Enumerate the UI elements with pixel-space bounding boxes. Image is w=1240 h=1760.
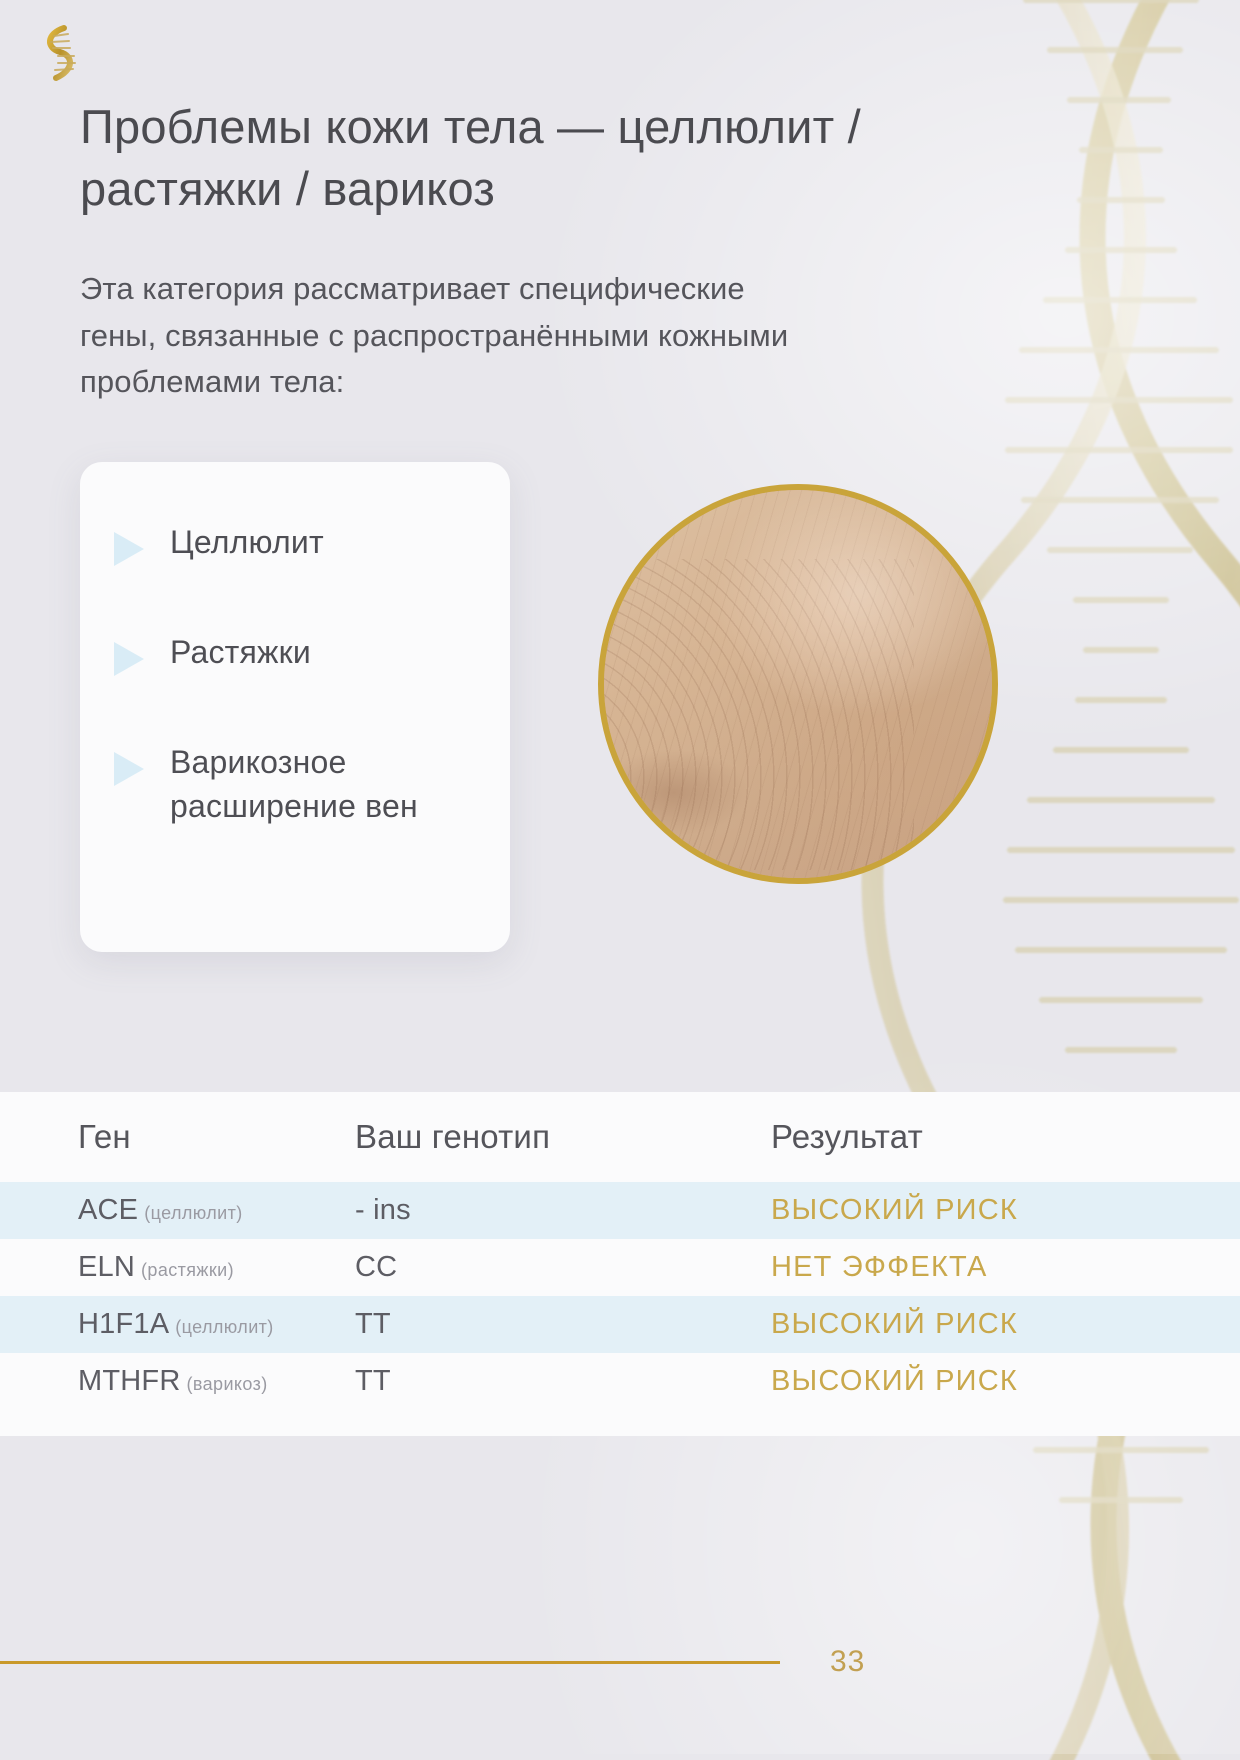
gene-symbol: MTHFR: [78, 1365, 180, 1397]
page-footer: 33: [0, 1642, 1240, 1682]
column-header-genotype: Ваш генотип: [355, 1092, 763, 1182]
intro-paragraph: Эта категория рассматривает специфически…: [80, 220, 800, 406]
cell-gene: H1F1A(целлюлит): [0, 1296, 355, 1353]
status-badge: НЕТ ЭФФЕКТА: [771, 1251, 988, 1283]
cell-result: ВЫСОКИЙ РИСК: [763, 1182, 1240, 1239]
photo-highlight-layer: [604, 490, 992, 878]
genotype-table: Ген Ваш генотип Результат ACE(целлюлит) …: [0, 1092, 1240, 1410]
gene-note: (целлюлит): [144, 1203, 242, 1223]
page-title: Проблемы кожи тела — целлюлит / растяжки…: [80, 0, 960, 220]
gene-symbol: ELN: [78, 1251, 135, 1283]
column-header-gene: Ген: [0, 1092, 355, 1182]
triangle-right-icon: [114, 532, 144, 566]
list-item-label: Целлюлит: [170, 520, 324, 565]
slide-content: Проблемы кожи тела — целлюлит / растяжки…: [0, 0, 1240, 982]
cell-result: ВЫСОКИЙ РИСК: [763, 1353, 1240, 1410]
page-number: 33: [830, 1645, 865, 1679]
list-item-label: Растяжки: [170, 630, 311, 675]
skin-closeup-photo: [598, 484, 998, 884]
table-row: ACE(целлюлит) - ins ВЫСОКИЙ РИСК: [0, 1182, 1240, 1239]
status-badge: ВЫСОКИЙ РИСК: [771, 1194, 1018, 1226]
cell-result: ВЫСОКИЙ РИСК: [763, 1296, 1240, 1353]
list-item: Целлюлит: [114, 520, 476, 566]
cell-genotype: TT: [355, 1353, 763, 1410]
table-header-row: Ген Ваш генотип Результат: [0, 1092, 1240, 1182]
gene-note: (растяжки): [141, 1260, 234, 1280]
footer-rule: [0, 1661, 780, 1664]
status-badge: ВЫСОКИЙ РИСК: [771, 1365, 1018, 1397]
conditions-card: Целлюлит Растяжки Варикозное расширение …: [80, 462, 510, 952]
cell-gene: ACE(целлюлит): [0, 1182, 355, 1239]
gene-symbol: H1F1A: [78, 1308, 169, 1340]
triangle-right-icon: [114, 752, 144, 786]
list-item-label: Варикозное расширение вен: [170, 740, 476, 830]
cell-result: НЕТ ЭФФЕКТА: [763, 1239, 1240, 1296]
conditions-list: Целлюлит Растяжки Варикозное расширение …: [114, 520, 476, 830]
gene-symbol: ACE: [78, 1194, 138, 1226]
genotype-table-wrap: Ген Ваш генотип Результат ACE(целлюлит) …: [0, 1092, 1240, 1436]
gene-note: (варикоз): [186, 1374, 267, 1394]
overview-block: Целлюлит Растяжки Варикозное расширение …: [80, 462, 1240, 982]
triangle-right-icon: [114, 642, 144, 676]
gene-note: (целлюлит): [175, 1317, 273, 1337]
dna-helix-icon: [30, 22, 84, 84]
table-row: ELN(растяжки) CC НЕТ ЭФФЕКТА: [0, 1239, 1240, 1296]
cell-gene: ELN(растяжки): [0, 1239, 355, 1296]
table-bottom-band: [0, 1410, 1240, 1436]
cell-gene: MTHFR(варикоз): [0, 1353, 355, 1410]
column-header-result: Результат: [763, 1092, 1240, 1182]
cell-genotype: TT: [355, 1296, 763, 1353]
table-row: H1F1A(целлюлит) TT ВЫСОКИЙ РИСК: [0, 1296, 1240, 1353]
list-item: Варикозное расширение вен: [114, 740, 476, 830]
list-item: Растяжки: [114, 630, 476, 676]
cell-genotype: CC: [355, 1239, 763, 1296]
status-badge: ВЫСОКИЙ РИСК: [771, 1308, 1018, 1340]
table-row: MTHFR(варикоз) TT ВЫСОКИЙ РИСК: [0, 1353, 1240, 1410]
cell-genotype: - ins: [355, 1182, 763, 1239]
